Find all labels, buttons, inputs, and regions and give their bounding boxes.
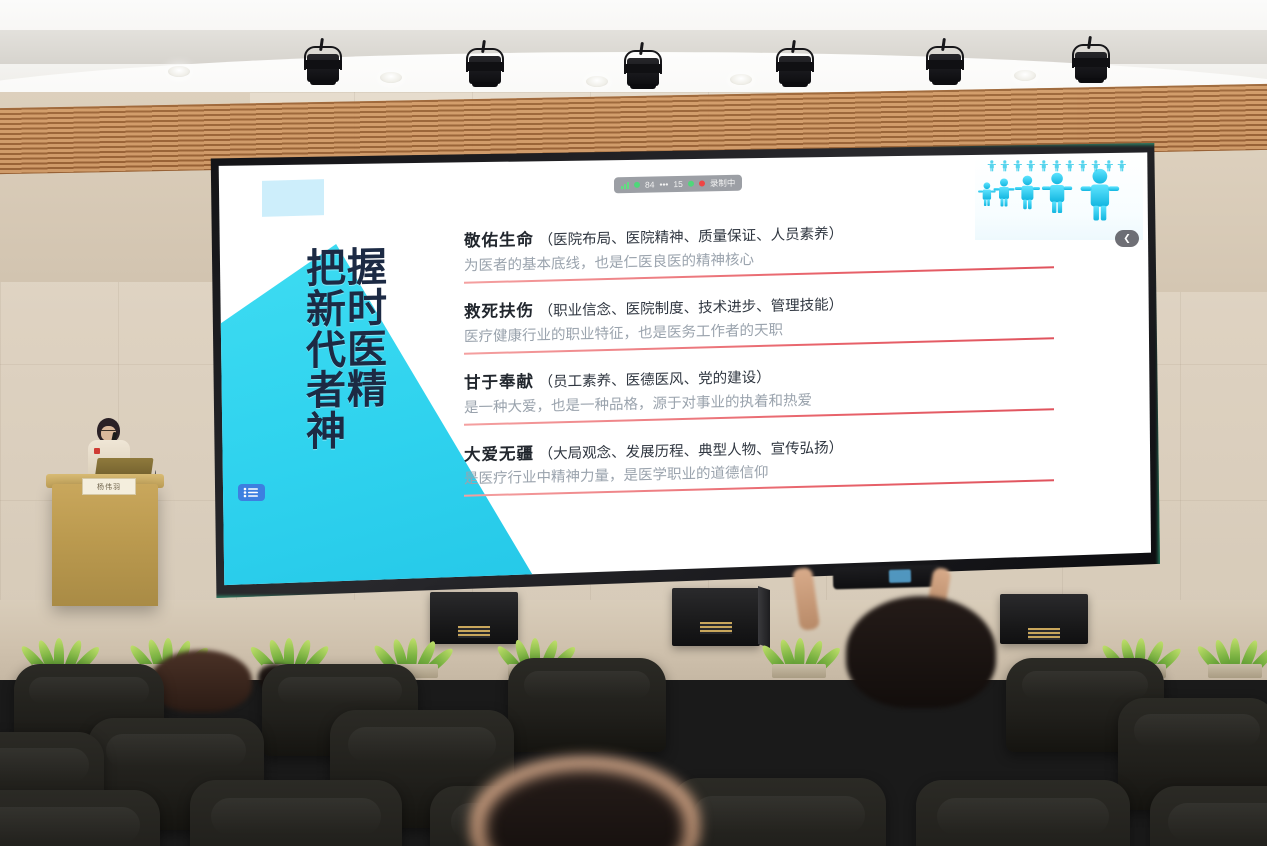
time-value: 15 bbox=[673, 179, 682, 189]
seat[interactable] bbox=[672, 778, 886, 846]
stage-spotlight-icon bbox=[300, 38, 346, 88]
bullet-detail: （员工素养、医德医风、党的建设） bbox=[539, 370, 771, 391]
list-icon[interactable] bbox=[238, 484, 265, 501]
slide-title-line: 代医 bbox=[306, 328, 430, 372]
bullet-detail: （职业信念、医院制度、技术进步、管理技能） bbox=[539, 297, 844, 320]
slide-bullet: 救死扶伤 （职业信念、医院制度、技术进步、管理技能） 医疗健康行业的职业特征，也… bbox=[464, 289, 1054, 353]
recessed-downlight-icon bbox=[586, 76, 608, 87]
bullet-heading: 救死扶伤 bbox=[464, 302, 534, 322]
bullet-heading: 大爱无疆 bbox=[464, 444, 534, 464]
status-dot-icon bbox=[634, 182, 640, 188]
led-presentation-screen[interactable]: 把握 新时 代医 者精 神 bbox=[205, 143, 1160, 598]
slide-title-line: 者精 bbox=[306, 369, 430, 413]
slide-bullet: 大爱无疆 （大局观念、发展历程、典型人物、宣传弘扬） 是医疗行业中精神力量，是医… bbox=[464, 431, 1054, 495]
smartphone-icon bbox=[833, 565, 942, 590]
recessed-downlight-icon bbox=[168, 66, 190, 77]
seat[interactable] bbox=[190, 780, 402, 846]
recording-label: 录制中 bbox=[710, 177, 736, 190]
speaker-name-card: 杨伟羽 bbox=[82, 478, 136, 495]
seat[interactable] bbox=[508, 658, 666, 752]
slide-title-line: 神 bbox=[306, 410, 430, 454]
stage-spotlight-icon bbox=[1068, 36, 1114, 86]
bullet-heading: 甘于奉献 bbox=[464, 373, 534, 393]
presentation-slide: 把握 新时 代医 者精 神 bbox=[214, 152, 1151, 586]
bullet-detail: （医院布局、医院精神、质量保证、人员素养） bbox=[539, 226, 844, 249]
recessed-downlight-icon bbox=[730, 74, 752, 85]
signal-bars-icon bbox=[621, 182, 629, 189]
stage-spotlight-icon bbox=[922, 38, 968, 88]
recessed-downlight-icon bbox=[380, 72, 402, 83]
stage-spotlight-icon bbox=[462, 40, 508, 90]
bullet-detail: （大局观念、发展历程、典型人物、宣传弘扬） bbox=[539, 440, 844, 463]
slide-title: 把握 新时 代医 者精 神 bbox=[306, 246, 430, 453]
slide-bullet: 敬佑生命 （医院布局、医院精神、质量保证、人员素养） 为医者的基本底线，也是仁医… bbox=[464, 218, 1054, 282]
record-dot-icon bbox=[699, 180, 705, 186]
slide-bullet: 甘于奉献 （员工素养、医德医风、党的建设） 是一种大爱，也是一种品格，源于对事业… bbox=[464, 360, 1054, 424]
masked-text: ••• bbox=[659, 179, 668, 189]
stage-spotlight-icon bbox=[620, 42, 666, 92]
seat[interactable] bbox=[1150, 786, 1267, 846]
conference-hall-scene: 把握 新时 代医 者精 神 bbox=[0, 0, 1267, 846]
seat[interactable] bbox=[0, 790, 160, 846]
slide-accent-rectangle bbox=[262, 179, 324, 217]
seat[interactable] bbox=[916, 780, 1130, 846]
podium: 东莞康华医院 bbox=[52, 484, 158, 606]
slide-title-line: 把握 bbox=[306, 246, 430, 290]
stage-spotlight-icon bbox=[772, 40, 818, 90]
bullet-heading: 敬佑生命 bbox=[464, 231, 534, 251]
recessed-downlight-icon bbox=[1014, 70, 1036, 81]
volume-icon bbox=[688, 181, 694, 187]
battery-value: 84 bbox=[645, 179, 654, 189]
speaker-badge bbox=[94, 448, 100, 454]
chevron-left-icon[interactable]: ❮ bbox=[1115, 230, 1139, 247]
slide-title-line: 新时 bbox=[306, 287, 430, 331]
status-bar: 84 ••• 15 录制中 bbox=[614, 175, 742, 194]
slide-bullet-list: 敬佑生命 （医院布局、医院精神、质量保证、人员素养） 为医者的基本底线，也是仁医… bbox=[464, 218, 1054, 516]
